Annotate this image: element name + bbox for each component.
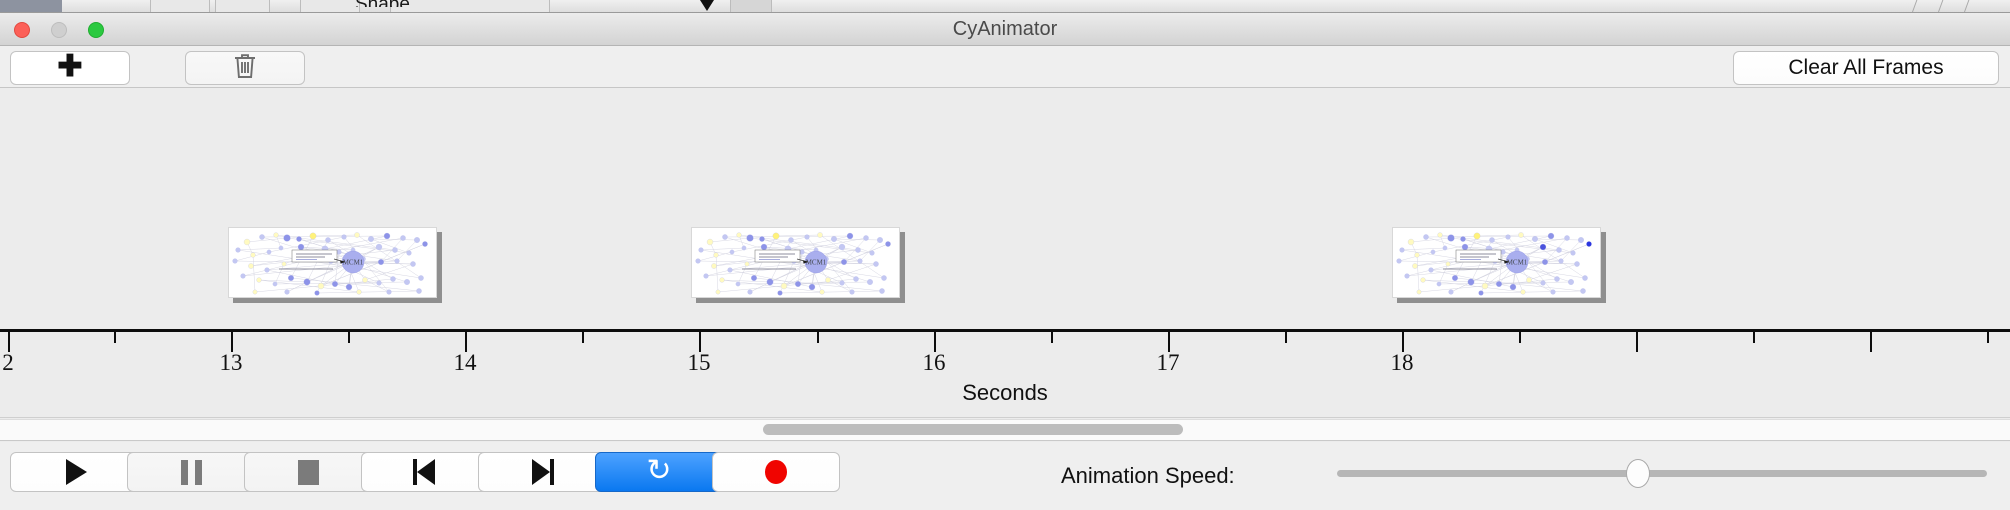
- stop-icon: [298, 460, 319, 485]
- loop-icon: ↻: [646, 456, 671, 486]
- play-icon: [66, 459, 87, 485]
- axis-label-seconds: Seconds: [0, 380, 2010, 406]
- delete-frame-button[interactable]: [185, 51, 305, 85]
- play-button[interactable]: [10, 452, 138, 492]
- background-window-label: Shape: [355, 0, 410, 7]
- timeline-panel[interactable]: MCM1 MCM1 MCM1 21314151: [0, 88, 2010, 418]
- record-icon: [765, 460, 787, 484]
- background-divider: [1964, 0, 1970, 13]
- timeline-frame-thumbnail[interactable]: MCM1: [691, 227, 905, 303]
- background-divider: [1912, 0, 1918, 13]
- ruler-tick-major: [1870, 332, 1872, 352]
- skip-forward-icon: [528, 459, 556, 485]
- ruler-tick-label: 15: [688, 350, 711, 376]
- toolbar: ✚ Clear All Frames: [0, 46, 2010, 88]
- ruler-tick-label: 2: [2, 350, 14, 376]
- cyanimator-window: Shape CyAnimator ✚ Clear Al: [0, 0, 2010, 510]
- ruler-tick-minor: [1753, 332, 1755, 343]
- loop-button[interactable]: ↻: [595, 452, 723, 492]
- skip-forward-button[interactable]: [478, 452, 606, 492]
- animation-speed-label: Animation Speed:: [1061, 463, 1235, 489]
- background-tab: [215, 0, 270, 13]
- ruler-tick-label: 16: [923, 350, 946, 376]
- ruler-tick-major: [465, 332, 467, 352]
- ruler-tick-minor: [348, 332, 350, 343]
- frame-image: MCM1: [1392, 227, 1601, 298]
- background-divider: [1938, 0, 1944, 13]
- background-marker-icon: [700, 0, 714, 11]
- ruler-tick-minor: [114, 332, 116, 343]
- ruler-tick-major: [1402, 332, 1404, 352]
- ruler-tick-major: [1168, 332, 1170, 352]
- background-window-sidebar: [0, 0, 62, 13]
- animation-speed-slider-thumb[interactable]: [1626, 459, 1650, 488]
- ruler-tick-minor: [817, 332, 819, 343]
- plus-icon: ✚: [57, 52, 82, 82]
- ruler-tick-major: [8, 332, 10, 352]
- pause-icon: [181, 460, 202, 485]
- ruler-tick-minor: [1987, 332, 1989, 343]
- svg-text:MCM1: MCM1: [343, 259, 364, 267]
- timeline-ruler: [0, 329, 2010, 332]
- pause-button[interactable]: [127, 452, 255, 492]
- background-tab: [390, 0, 550, 13]
- ruler-tick-major: [1636, 332, 1638, 352]
- ruler-tick-minor: [1285, 332, 1287, 343]
- background-window-strip: Shape: [0, 0, 2010, 13]
- title-bar: CyAnimator: [0, 13, 2010, 46]
- ruler-tick-label: 17: [1157, 350, 1180, 376]
- skip-back-icon: [411, 459, 439, 485]
- ruler-tick-label: 18: [1391, 350, 1414, 376]
- svg-text:MCM1: MCM1: [806, 259, 827, 267]
- background-tab: [150, 0, 210, 13]
- ruler-tick-minor: [1519, 332, 1521, 343]
- timeline-frame-thumbnail[interactable]: MCM1: [228, 227, 442, 303]
- frame-image: MCM1: [228, 227, 437, 298]
- add-frame-button[interactable]: ✚: [10, 51, 130, 85]
- ruler-tick-minor: [582, 332, 584, 343]
- ruler-tick-label: 14: [454, 350, 477, 376]
- stop-button[interactable]: [244, 452, 372, 492]
- ruler-tick-label: 13: [220, 350, 243, 376]
- horizontal-scrollbar-track[interactable]: [0, 419, 2010, 441]
- clear-all-frames-button[interactable]: Clear All Frames: [1733, 51, 1999, 85]
- ruler-tick-major: [699, 332, 701, 352]
- frame-image: MCM1: [691, 227, 900, 298]
- record-button[interactable]: [712, 452, 840, 492]
- ruler-tick-major: [934, 332, 936, 352]
- animation-speed-slider[interactable]: [1337, 470, 1987, 477]
- ruler-tick-minor: [1051, 332, 1053, 343]
- svg-text:MCM1: MCM1: [1507, 259, 1528, 267]
- playback-toolbar: ↻ Animation Speed:: [0, 442, 2010, 510]
- window-title: CyAnimator: [0, 13, 2010, 46]
- background-tab: [730, 0, 772, 13]
- ruler-tick-major: [231, 332, 233, 352]
- skip-back-button[interactable]: [361, 452, 489, 492]
- background-tab: [300, 0, 360, 13]
- trash-icon: [232, 51, 258, 86]
- timeline-frame-thumbnail[interactable]: MCM1: [1392, 227, 1606, 303]
- horizontal-scrollbar-thumb[interactable]: [763, 424, 1183, 435]
